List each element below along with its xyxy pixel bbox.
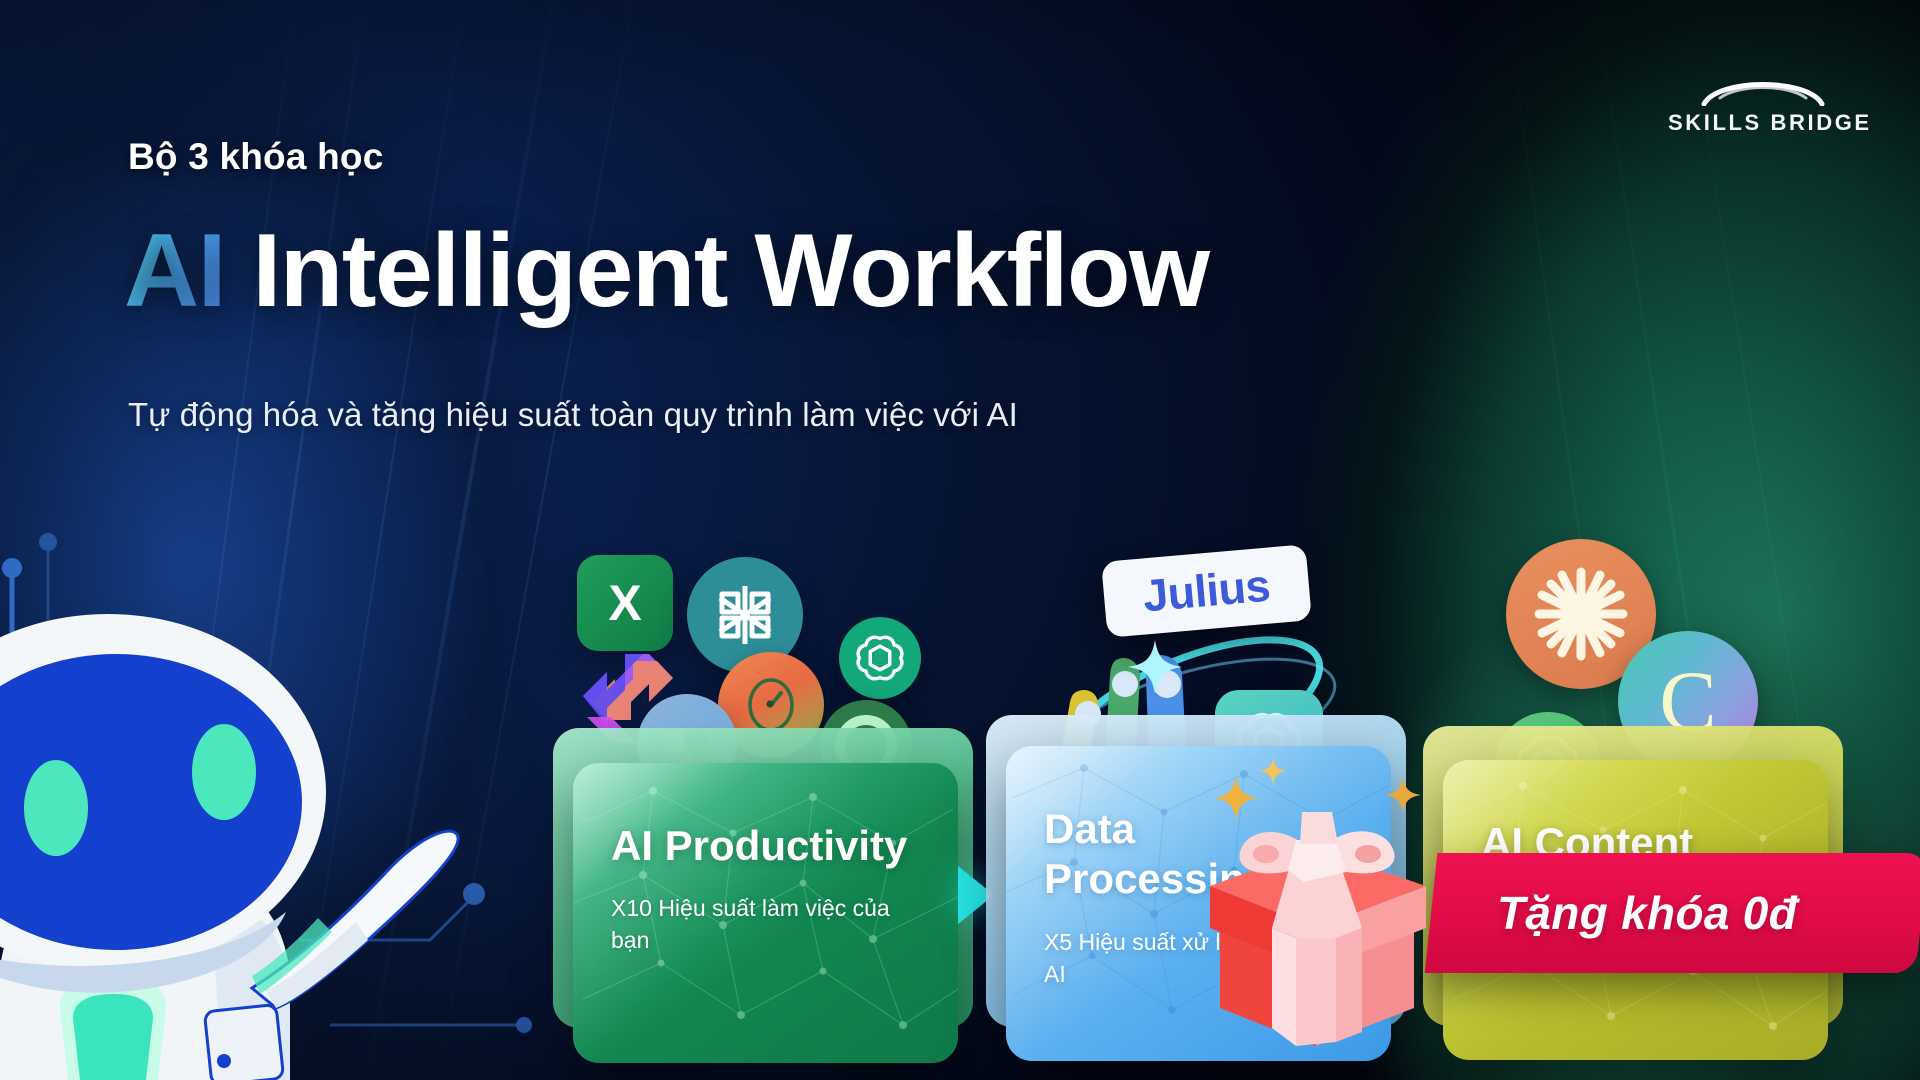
sparkle-icon <box>1212 774 1260 822</box>
promo-ribbon[interactable]: Tặng khóa 0đ <box>1425 853 1920 973</box>
excel-icon: X <box>577 555 673 651</box>
julius-badge-label: Julius <box>1141 560 1272 623</box>
hero-title-rest: Intelligent Workflow <box>252 213 1208 329</box>
sparkle-icon <box>1384 776 1422 814</box>
brand-logo-text: SKILLS BRIDGE <box>1668 110 1858 136</box>
card-1-title: AI Productivity <box>611 821 934 871</box>
hero-eyebrow: Bộ 3 khóa học <box>128 136 383 178</box>
hero-title-accent: AI <box>124 213 225 329</box>
gift-box-icon <box>1196 800 1436 1050</box>
card-1-description: X10 Hiệu suất làm việc của bạn <box>611 893 934 956</box>
hero-title: AI Intelligent Workflow <box>124 218 1208 324</box>
brand-logo[interactable]: SKILLS BRIDGE <box>1668 72 1858 136</box>
sparkle-icon <box>1126 638 1184 696</box>
robot-mascot <box>0 556 480 1080</box>
hero-subtitle: Tự động hóa và tăng hiệu suất toàn quy t… <box>128 396 1018 434</box>
course-card-ai-productivity[interactable]: AI Productivity X10 Hiệu suất làm việc c… <box>573 763 958 1063</box>
openai-icon <box>839 617 921 699</box>
banner-stage: SKILLS BRIDGE Bộ 3 khóa học AI Intellige… <box>0 0 1920 1080</box>
arch-bridge-icon <box>1700 72 1826 106</box>
promo-ribbon-label: Tặng khóa 0đ <box>1497 886 1797 940</box>
sparkle-icon <box>1258 756 1288 786</box>
